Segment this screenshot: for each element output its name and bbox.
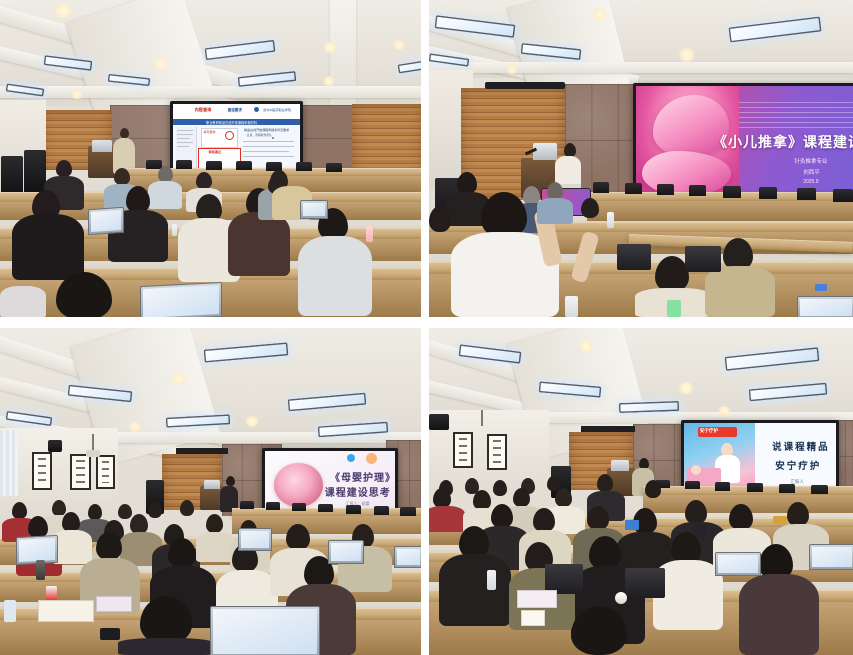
notebook (517, 590, 557, 608)
laptop (238, 528, 272, 551)
slide-line (177, 142, 192, 143)
presenter-body (555, 156, 581, 186)
audience-head (491, 504, 513, 528)
ceiling-downlight (392, 40, 406, 50)
ceiling-downlight (591, 8, 609, 21)
audience-body (228, 212, 290, 276)
audience-head (597, 474, 613, 492)
audience-body (298, 236, 372, 316)
audience-head (196, 172, 212, 189)
water-bottle (487, 570, 496, 590)
desk-monitor (685, 481, 700, 489)
audience-head (685, 500, 707, 524)
smartphone[interactable] (625, 520, 639, 530)
desk-monitor (689, 185, 706, 196)
desk-monitor (266, 502, 280, 510)
laptop (797, 296, 853, 317)
audience-body (537, 198, 573, 224)
audience-body (439, 554, 511, 626)
audience-head (787, 502, 809, 526)
laptop (809, 544, 853, 570)
ceiling-downlight (70, 90, 84, 99)
audience-head (429, 206, 451, 232)
slide-line (177, 146, 188, 147)
audience-head (729, 504, 753, 530)
desk-item (773, 516, 787, 524)
audience-body (705, 266, 775, 317)
slide-content: 《小儿推拿》课程建设思考 针灸推拿专业 刘西平 2025.9 (636, 86, 853, 198)
desk-monitor (833, 189, 853, 202)
desk-monitor (715, 482, 730, 491)
audience-head (555, 488, 572, 507)
notebook (521, 610, 545, 626)
smartphone[interactable] (100, 628, 120, 640)
wall-trim (581, 426, 635, 432)
desk-monitor (326, 163, 342, 172)
desk-monitor (759, 187, 777, 199)
tumbler (36, 560, 45, 580)
desk-monitor (176, 160, 192, 169)
photo-top-left[interactable]: 内容查询 建设要求 贵州中医药职业学院 职业教育精品在线开放课程申报材料 填写要… (0, 0, 421, 317)
lecture-hall-scene-br: 安宁疗护 说课程精品 安宁疗护 汇报人 (429, 328, 853, 655)
slide-cursor-dot (272, 137, 274, 139)
audience-head (587, 506, 609, 530)
audience-body-foreground (118, 638, 214, 655)
ceiling-downlight (152, 58, 170, 70)
chair-back (625, 568, 665, 598)
institution-logo-icon (254, 107, 259, 112)
slide-line (243, 151, 289, 152)
desk-monitor (296, 162, 312, 171)
ceiling-downlight (244, 416, 260, 427)
smartphone[interactable] (667, 300, 681, 317)
audience-head (52, 500, 66, 516)
projector (86, 450, 100, 457)
ceiling-downlight (322, 76, 336, 86)
decorative-dot (366, 453, 377, 464)
audience-body (12, 214, 84, 280)
audience-body (52, 530, 92, 564)
audience-head (56, 160, 72, 177)
audience-head (206, 514, 223, 533)
desk-monitor (625, 183, 642, 194)
water-bottle (607, 212, 614, 228)
audience-head (589, 536, 621, 570)
ceiling-downlight (170, 372, 188, 385)
institution-name: 贵州中医药职业学院 (263, 107, 291, 112)
ceiling-downlight (717, 406, 732, 416)
presenter-head (120, 128, 129, 138)
slide-title-line-2: 课程建设思考 (325, 484, 391, 499)
podium-monitor (533, 143, 557, 160)
hand-shape (642, 151, 731, 196)
audience-body (429, 506, 465, 532)
chair-back (685, 246, 721, 272)
slide-line (243, 146, 294, 147)
audience-head (433, 488, 451, 508)
audience-head (118, 504, 132, 519)
slide-subtitle-line-1: 针灸推拿专业 (794, 157, 827, 165)
slide-subtitle-line-2: 刘西平 (803, 168, 820, 176)
lecture-hall-scene-bl: 《母婴护理》 课程建设思考 汇报人：姚蕾 (0, 328, 421, 655)
ceiling-panel-light (619, 401, 679, 413)
podium-monitor (204, 480, 220, 489)
laptop (300, 200, 328, 219)
audience-head (168, 538, 196, 568)
presenter-head (226, 476, 235, 486)
slide-line (177, 134, 192, 135)
smartphone[interactable] (815, 284, 827, 291)
photo-bottom-left[interactable]: 《母婴护理》 课程建设思考 汇报人：姚蕾 (0, 328, 421, 655)
desk-monitor (292, 503, 306, 511)
lecture-hall-scene-tr: 《小儿推拿》课程建设思考 针灸推拿专业 刘西平 2025.9 (429, 0, 853, 317)
calligraphy-frame (96, 455, 115, 489)
water-cup (615, 592, 627, 604)
audience-head (96, 532, 122, 560)
slide-stripe-decoration (739, 102, 853, 131)
wall-trim (176, 448, 228, 454)
audience-head (62, 512, 80, 532)
photo-top-right[interactable]: 《小儿推拿》课程建设思考 针灸推拿专业 刘西平 2025.9 (429, 0, 853, 317)
audience-head (130, 514, 148, 534)
photo-grid: 内容查询 建设要求 贵州中医药职业学院 职业教育精品在线开放课程申报材料 填写要… (0, 0, 853, 655)
ceiling-downlight (128, 422, 142, 432)
slide-header-blue-text: 建设要求 (228, 108, 242, 113)
desk-monitor (240, 501, 254, 509)
ceiling-downlight (677, 48, 697, 62)
patient-head (691, 465, 701, 475)
audience-body (148, 181, 182, 209)
ceiling-beam (0, 86, 421, 98)
audience-head (114, 168, 130, 185)
slide-line (243, 156, 294, 157)
desk-monitor (797, 188, 816, 200)
ceiling-downlight (505, 64, 519, 74)
water-bottle (366, 226, 373, 242)
wall-speaker (1, 156, 23, 194)
decorative-dot (347, 454, 355, 462)
audience-body (739, 574, 819, 655)
slide-banner-text: 职业教育精品在线开放课程申报材料 (206, 120, 257, 125)
slide-header-red-text: 内容查询 (195, 107, 212, 113)
desk-monitor (593, 182, 609, 193)
ceiling-downlight (322, 42, 338, 53)
slide-highlight-label: 审核通过 (209, 149, 221, 154)
calligraphy-frame (487, 434, 507, 470)
desk-monitor (723, 186, 741, 198)
notebook (96, 596, 132, 612)
water-glass (565, 296, 578, 317)
desk-monitor (747, 483, 763, 492)
ceiling-downlight (677, 382, 695, 394)
laptop (328, 540, 364, 564)
slide-right-sub: 主讲、课程教学团队 (247, 133, 272, 137)
ceiling-downlight (52, 4, 74, 18)
wall-speaker (48, 440, 62, 452)
water-bottle (172, 224, 177, 236)
heart-illustration (274, 463, 323, 508)
desk-monitor (318, 504, 333, 512)
notebook (38, 600, 94, 622)
photo-bottom-right[interactable]: 安宁疗护 说课程精品 安宁疗护 汇报人 (429, 328, 853, 655)
audience-head (457, 172, 477, 194)
podium-monitor (92, 140, 112, 152)
desk-monitor (206, 161, 222, 170)
audience-head (493, 480, 507, 496)
slide-title-line-1: 说课程精品 (772, 439, 830, 453)
audience-head (158, 166, 173, 182)
laptop (394, 546, 421, 568)
slide-title-line-2: 安宁疗护 (775, 458, 821, 472)
laptop (715, 552, 761, 576)
projector-mount (481, 410, 483, 426)
audience-head (88, 504, 102, 520)
wall-speaker (24, 150, 46, 194)
slide-line (177, 130, 192, 131)
desk-monitor (811, 485, 828, 494)
audience-head (513, 488, 530, 507)
slide-doc-title: 填写要求 (203, 130, 215, 134)
podium-monitor (611, 460, 629, 471)
desk-monitor (374, 506, 389, 515)
audience-head (180, 500, 194, 516)
audience-head (12, 502, 27, 519)
slide-title: 《小儿推拿》课程建设思考 (713, 132, 853, 152)
slide-line (177, 138, 190, 139)
presenter-head (564, 143, 576, 157)
calligraphy-frame (70, 454, 91, 490)
audience-head (286, 524, 310, 550)
laptop (140, 282, 222, 317)
window-blinds (0, 430, 18, 496)
slide-title-line-1: 《母婴护理》 (330, 469, 396, 484)
wall-speaker (429, 414, 449, 430)
laptop (88, 207, 124, 236)
slide-line (243, 141, 294, 142)
chair-back (617, 244, 651, 270)
smartphone[interactable] (695, 524, 707, 538)
artwork-badge-text: 安宁疗护 (700, 428, 718, 434)
ceiling-beam (429, 62, 853, 73)
calligraphy-frame (32, 452, 52, 490)
lecture-hall-scene-tl: 内容查询 建设要求 贵州中医药职业学院 职业教育精品在线开放课程申报材料 填写要… (0, 0, 421, 317)
audience-head (473, 490, 491, 510)
laptop-foreground (210, 606, 320, 655)
desk-monitor (657, 184, 674, 195)
slide-subtitle-line-3: 2025.9 (803, 179, 818, 185)
calligraphy-frame (453, 432, 473, 468)
wall-trim (485, 82, 565, 89)
desk-monitor (400, 507, 416, 516)
audience-head (148, 502, 162, 518)
audience-head (533, 508, 555, 532)
desk-monitor (346, 505, 361, 514)
audience-head (581, 198, 599, 218)
audience-head (126, 186, 150, 213)
ceiling-downlight (577, 340, 595, 352)
desk-monitor (779, 484, 795, 493)
audience-head (655, 256, 689, 292)
smartphone[interactable] (4, 600, 16, 622)
slide-right-title: 精品在线开放课程申报条件及要求 (244, 128, 289, 132)
desk-monitor (236, 161, 252, 170)
audience-head (645, 480, 661, 498)
audience-body-foreground (0, 286, 46, 317)
front-desk-panel (587, 201, 853, 221)
